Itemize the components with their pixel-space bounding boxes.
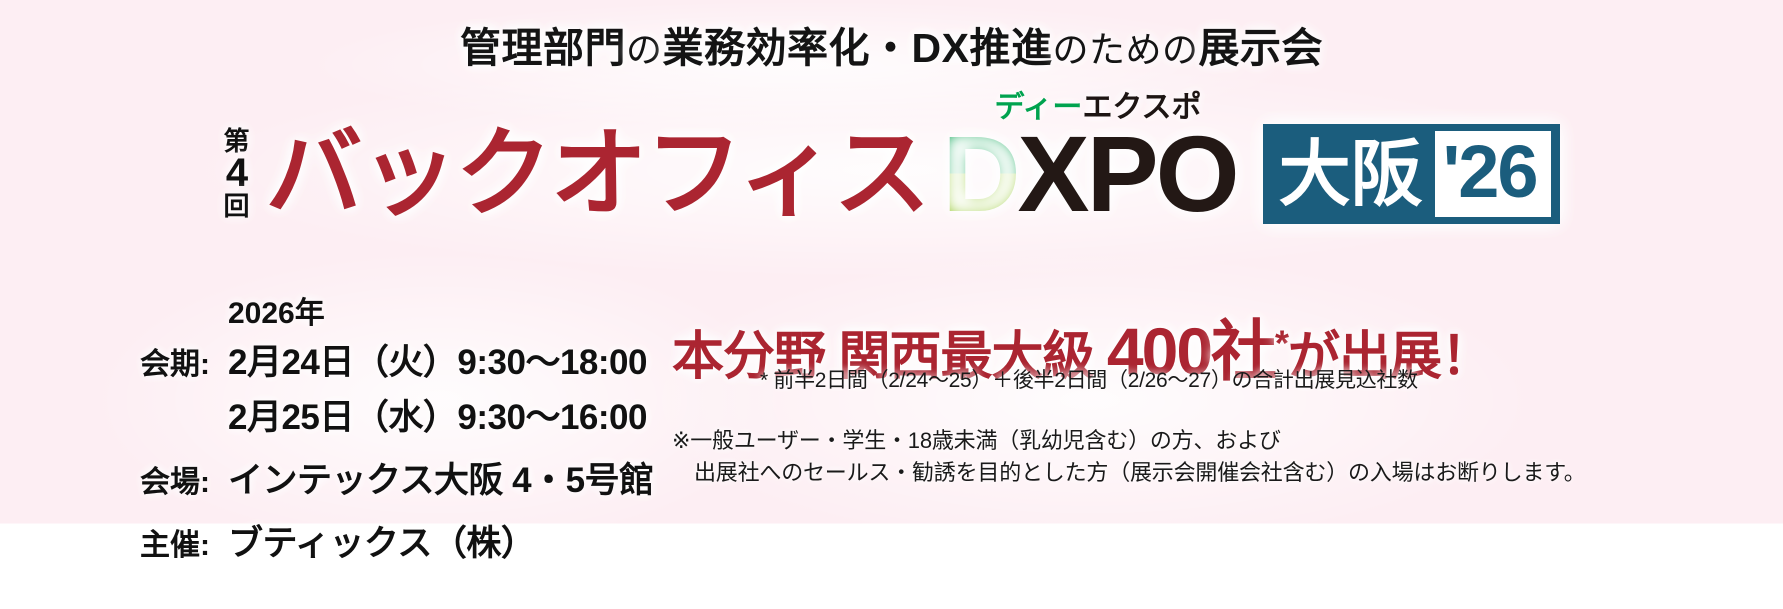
detail-label-venue: 会場:	[140, 457, 228, 501]
tagline-part-3: 展示会	[1199, 25, 1324, 71]
disclaimer-line-1: ※一般ユーザー・学生・18歳未満（乳幼児含む）の方、および	[672, 428, 1281, 453]
promo-footnote: * 前半2日間（2/24〜25）＋後半2日間（2/26〜27）の合計出展見込社数	[760, 364, 1760, 394]
admission-disclaimer: ※一般ユーザー・学生・18歳未満（乳幼児含む）の方、および 出展社へのセールス・…	[672, 425, 1732, 489]
tagline-part-2: 業務効率化・DX推進	[663, 25, 1053, 71]
detail-row-dates-day1: 会期: 2月24日（火）9:30〜18:00	[140, 334, 700, 385]
tagline-particle-2: のための	[1052, 29, 1198, 70]
detail-value-day2: 2月25日（水）9:30〜16:00	[228, 389, 647, 440]
furigana-green: ディー	[995, 91, 1083, 124]
edition-number: 4	[226, 154, 247, 193]
event-details-block: 2026年 会期: 2月24日（火）9:30〜18:00 2月25日（水）9:3…	[140, 288, 700, 570]
detail-value-venue: インテックス大阪 4・5号館	[228, 452, 654, 503]
badge-year-box: '26	[1435, 131, 1551, 217]
detail-value-organizer: ブティックス（株）	[228, 515, 535, 566]
detail-row-organizer: 主催: ブティックス（株）	[140, 515, 700, 566]
dxpo-logo: ディーエクスポ DXPO	[943, 120, 1237, 228]
event-year: 2026年	[228, 288, 700, 332]
city-year-badge: 大阪 '26	[1263, 124, 1560, 224]
dxpo-text: DXPO	[943, 120, 1237, 228]
detail-value-day1: 2月24日（火）9:30〜18:00	[228, 334, 647, 385]
tagline-particle-1: の	[626, 29, 663, 70]
furigana-black: エクスポ	[1082, 91, 1201, 124]
dxpo-d-letter: D	[943, 113, 1018, 234]
detail-label-period: 会期:	[140, 339, 228, 383]
edition-suffix: 回	[223, 194, 249, 219]
disclaimer-line-2: 出展社へのセールス・勧誘を目的とした方（展示会開催会社含む）の入場はお断りします…	[672, 457, 1732, 489]
banner-tagline: 管理部門の業務効率化・DX推進のための展示会	[0, 14, 1783, 74]
badge-city-label: 大阪	[1279, 131, 1435, 217]
edition-number-block: 第 4 回	[223, 129, 249, 219]
headline-asterisk: *	[1275, 323, 1288, 364]
logo-wordmark: バックオフィス	[265, 125, 928, 222]
detail-label-organizer: 主催:	[140, 520, 228, 564]
background-glow	[640, 250, 1540, 550]
detail-row-venue: 会場: インテックス大阪 4・5号館	[140, 452, 700, 503]
event-logo-lockup: 第 4 回 バックオフィス ディーエクスポ DXPO 大阪 '26	[0, 95, 1783, 245]
tagline-part-1: 管理部門	[460, 25, 626, 71]
badge-year-label: '26	[1443, 135, 1537, 213]
dxpo-xpo-letters: XPO	[1018, 113, 1237, 234]
detail-row-dates-day2: 2月25日（水）9:30〜16:00	[228, 389, 700, 440]
dxpo-furigana: ディーエクスポ	[995, 82, 1202, 126]
event-banner: 管理部門の業務効率化・DX推進のための展示会 第 4 回 バックオフィス ディー…	[0, 0, 1783, 609]
